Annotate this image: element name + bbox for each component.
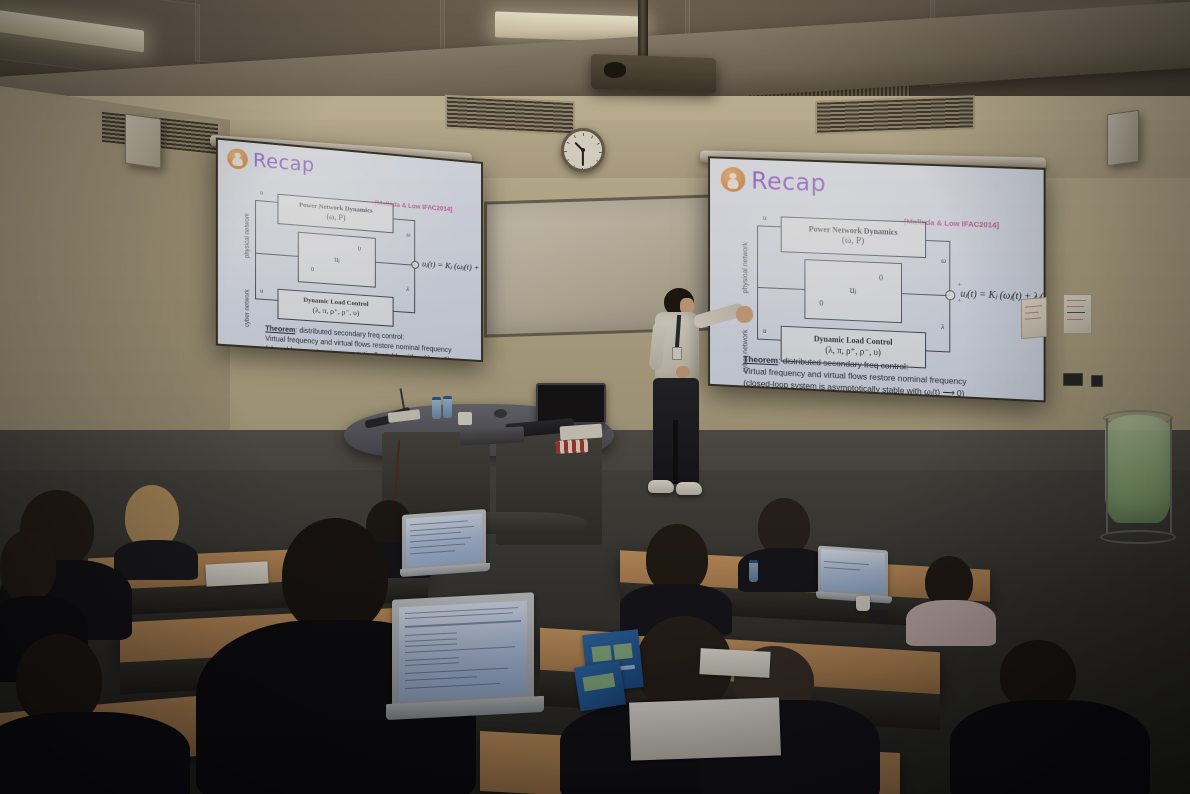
matrix-entry-0: 0 — [879, 273, 883, 283]
signal-label-lambda: λ — [406, 287, 409, 293]
signal-label-u-top: u — [260, 190, 263, 196]
theorem-label: Theorem — [265, 325, 295, 334]
axis-label-cyber-network: cyber network — [245, 289, 251, 327]
lecture-hall-scene: Recap [Mallada & Low IFAC2014] physical … — [0, 0, 1190, 794]
water-bottle-2[interactable] — [443, 396, 452, 418]
block-subtitle: (λ, π, ρ⁺, ρ⁻, υ) — [313, 306, 360, 319]
summation-node — [411, 261, 419, 270]
block-subtitle: (ω, P) — [326, 212, 345, 224]
summation-node — [945, 290, 955, 300]
air-vent-3 — [815, 95, 975, 135]
laptop-screen — [406, 513, 482, 566]
matrix-entry-1: 0 — [311, 266, 314, 274]
signal-label-u-top: u — [763, 214, 766, 222]
presenter-shoe-right — [676, 482, 702, 495]
matrix-symbol: uⱼ — [334, 255, 339, 265]
wall-notice-blue — [1021, 297, 1047, 339]
block-power-network-dynamics: Power Network Dynamics (ω, P) — [781, 216, 926, 258]
clicker-device[interactable] — [868, 610, 888, 621]
presenter-badge — [672, 347, 682, 360]
wall-clock — [561, 128, 605, 172]
right-projection-screen: Recap [Mallada & Low IFAC2014] physical … — [708, 156, 1046, 402]
control-law-equation: uⱼ(t) = Kⱼ (ωⱼ(t) + λⱼ(t)) — [422, 258, 483, 275]
desk-water-bottle[interactable] — [749, 560, 758, 582]
axis-label-physical-network: physical network — [245, 213, 251, 259]
slide-title: Recap — [751, 167, 826, 198]
matrix-symbol: uⱼ — [850, 285, 857, 298]
presenter-shoe-left — [648, 480, 674, 493]
wall-speaker-left — [125, 113, 161, 168]
projector-lens — [604, 62, 626, 78]
trash-bin-green-liner — [1105, 415, 1171, 523]
computer-mouse[interactable] — [494, 409, 507, 418]
slide-content-left: Recap [Mallada & Low IFAC2014] physical … — [216, 137, 483, 362]
signal-label-u-bottom: u — [763, 327, 766, 335]
clock-center-pin — [581, 148, 585, 152]
paper-cup[interactable] — [856, 596, 870, 611]
clock-minute-hand — [582, 150, 584, 166]
wall-notice-red — [1063, 294, 1092, 334]
axis-label-physical-network: physical network — [742, 242, 749, 294]
presenter-leg-gap — [673, 420, 678, 484]
slide-title: Recap — [253, 149, 315, 177]
water-bottle-1[interactable] — [432, 397, 441, 419]
signal-label-u-bottom: u — [260, 289, 263, 295]
block-dynamic-load-control: Dynamic Load Control (λ, π, ρ⁺, ρ⁻, υ) — [277, 289, 393, 327]
projector-mount-pole — [638, 0, 648, 58]
data-port[interactable] — [1091, 375, 1103, 387]
printed-paper-row1 — [205, 561, 268, 586]
presenter-left-hand — [676, 366, 690, 378]
red-card — [556, 439, 589, 454]
theorem-label: Theorem — [743, 354, 778, 366]
conference-booklet-2[interactable] — [574, 661, 626, 712]
wall-speaker-right — [1107, 110, 1139, 166]
block-matrix: 0 uⱼ 0 — [298, 232, 376, 288]
trash-bin-base — [1100, 530, 1176, 544]
signal-label-omega: ω — [941, 257, 946, 265]
printed-paper-front — [629, 697, 781, 760]
recap-logo-icon — [227, 148, 248, 170]
laptop-screen — [821, 549, 885, 594]
block-matrix: 0 uⱼ 0 — [804, 259, 902, 323]
tissue-box — [458, 412, 472, 425]
control-panel[interactable] — [460, 426, 525, 445]
block-subtitle: (λ, π, ρ⁺, ρ⁻, υ) — [825, 345, 881, 359]
matrix-entry-0: 0 — [358, 245, 361, 253]
laptop-screen — [399, 601, 527, 702]
lectern-papers-right — [560, 424, 603, 441]
signal-label-omega: ω — [406, 232, 410, 238]
left-projection-screen: Recap [Mallada & Low IFAC2014] physical … — [216, 137, 483, 362]
slide-content-right: Recap [Mallada & Low IFAC2014] physical … — [708, 156, 1046, 402]
signal-label-lambda: λ — [941, 323, 944, 331]
block-subtitle: (ω, P) — [842, 236, 865, 249]
air-vent-2 — [445, 95, 575, 136]
printed-paper-front-2 — [699, 648, 770, 678]
power-outlet[interactable] — [1063, 373, 1083, 386]
matrix-entry-1: 0 — [819, 299, 823, 309]
recap-logo-icon — [721, 167, 746, 193]
